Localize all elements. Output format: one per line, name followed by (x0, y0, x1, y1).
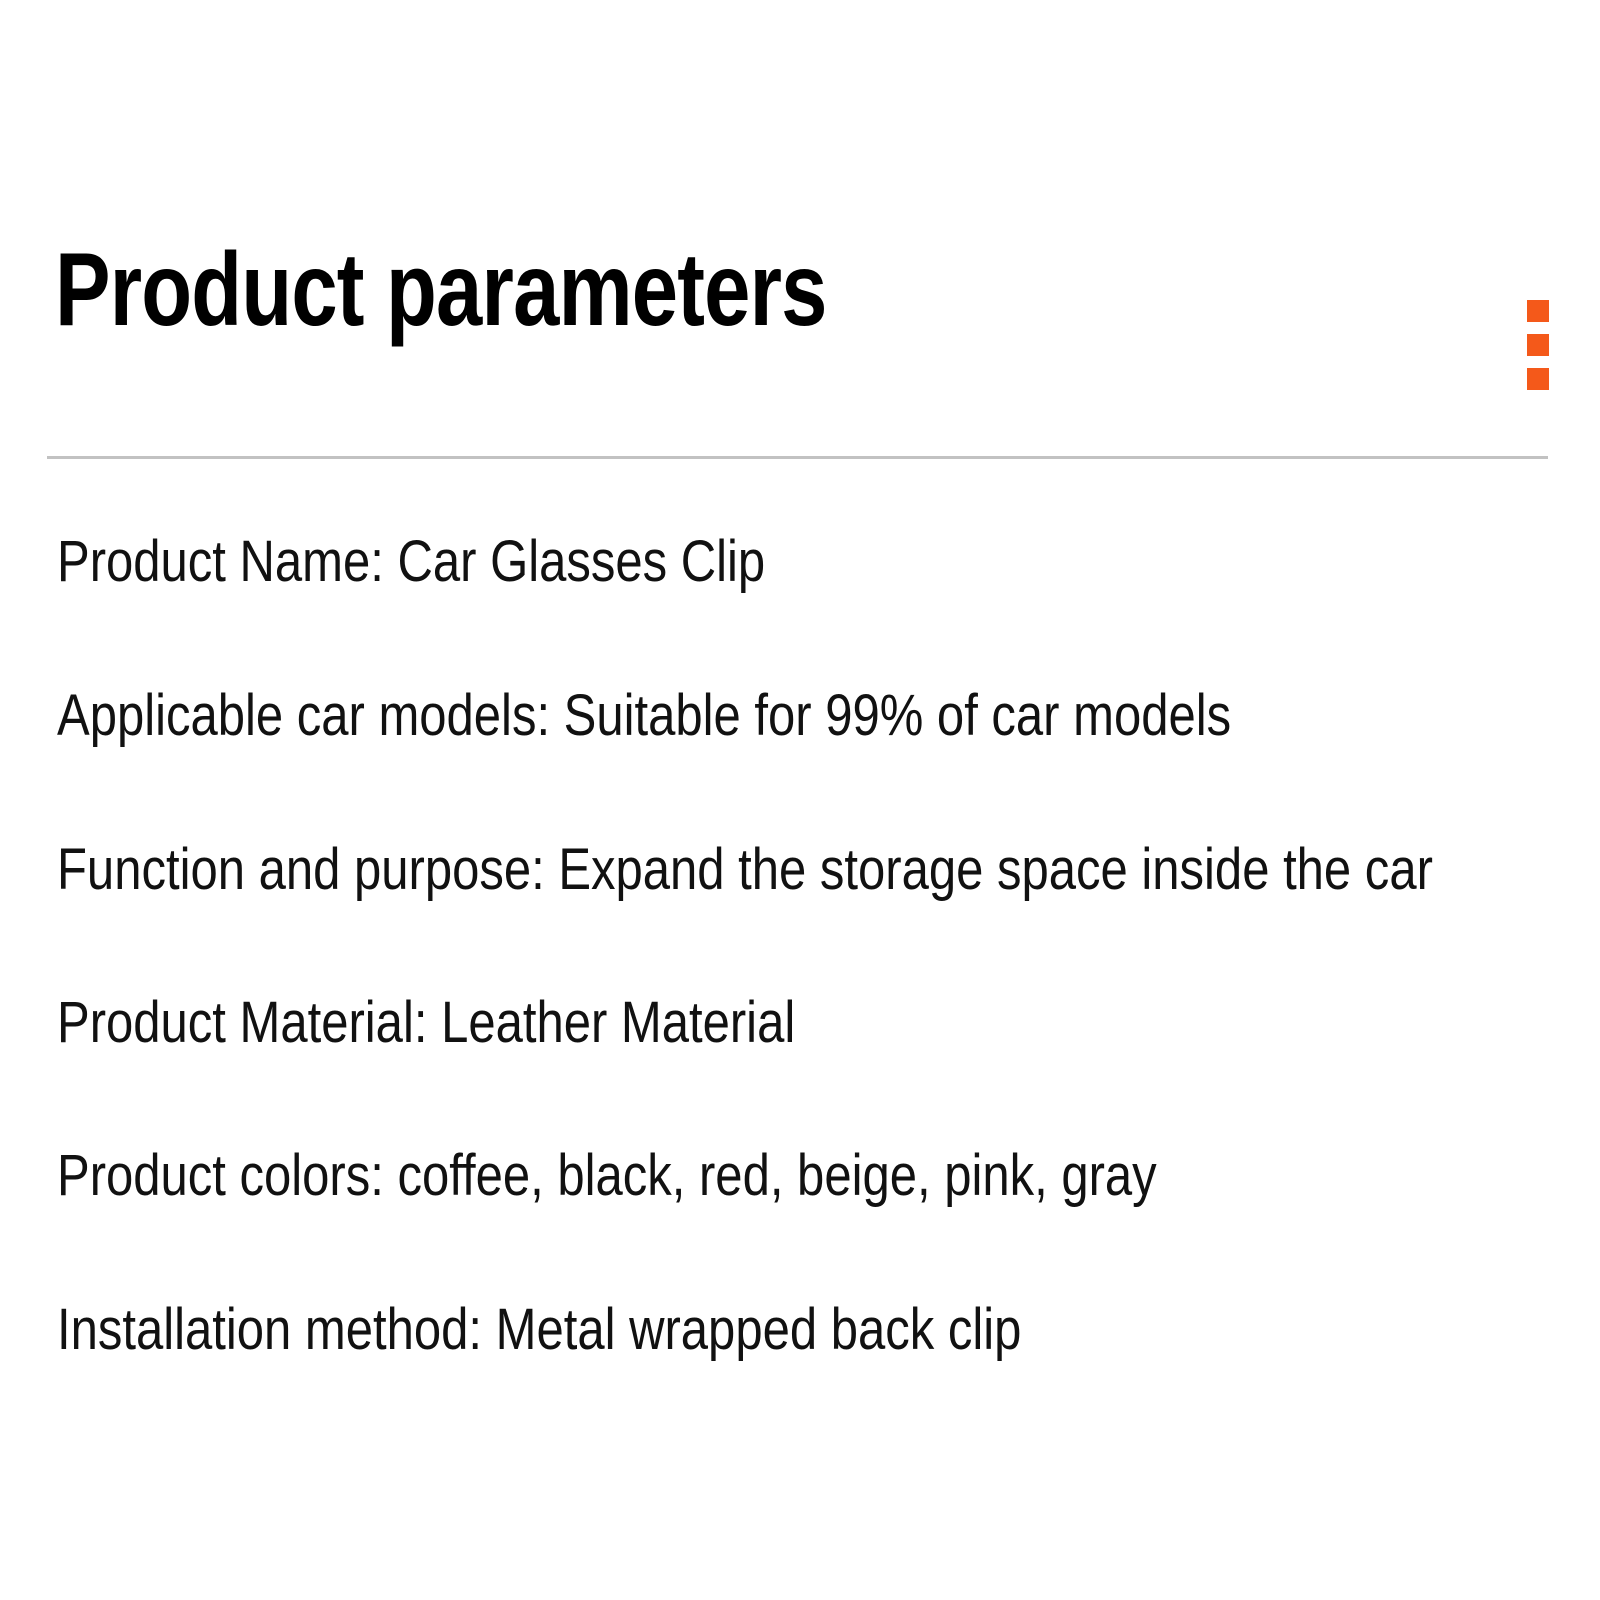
slide-header: Product parameters (0, 0, 1600, 470)
spec-row-product-colors: Product colors: coffee, black, red, beig… (57, 1148, 1341, 1204)
spec-row-function-and-purpose: Function and purpose: Expand the storage… (57, 842, 1341, 898)
spec-row-installation-method: Installation method: Metal wrapped back … (57, 1302, 1341, 1358)
spec-row-applicable-car-models: Applicable car models: Suitable for 99% … (57, 688, 1341, 744)
page-title: Product parameters (55, 238, 827, 342)
three-orange-squares-decoration-icon (1527, 300, 1549, 390)
spec-row-product-material: Product Material: Leather Material (57, 995, 1341, 1051)
orange-square-icon (1527, 300, 1549, 322)
product-parameters-slide: Product parameters Product Name: Car Gla… (0, 0, 1600, 1600)
orange-square-icon (1527, 334, 1549, 356)
header-divider (47, 456, 1548, 459)
orange-square-icon (1527, 368, 1549, 390)
spec-row-product-name: Product Name: Car Glasses Clip (57, 534, 1341, 590)
